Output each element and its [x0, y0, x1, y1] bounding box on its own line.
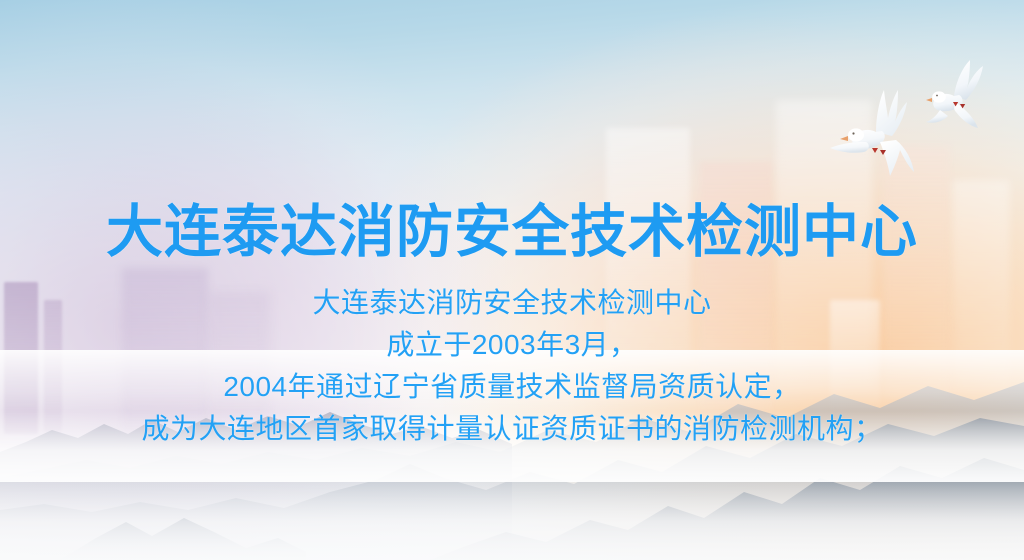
- description-block: 大连泰达消防安全技术检测中心 成立于2003年3月， 2004年通过辽宁省质量技…: [0, 282, 1024, 450]
- dove-icon-right: [920, 58, 996, 138]
- description-line-1: 大连泰达消防安全技术检测中心: [0, 282, 1024, 324]
- description-line-3: 2004年通过辽宁省质量技术监督局资质认定，: [0, 366, 1024, 408]
- description-line-2: 成立于2003年3月，: [0, 324, 1024, 366]
- description-line-4: 成为大连地区首家取得计量认证资质证书的消防检测机构；: [0, 408, 1024, 450]
- dove-icon-left: [826, 86, 926, 182]
- page-title: 大连泰达消防安全技术检测中心: [0, 200, 1024, 264]
- dove-right-svg: [920, 58, 996, 138]
- dove-left-svg: [826, 86, 926, 182]
- banner-stage: 大连泰达消防安全技术检测中心 大连泰达消防安全技术检测中心 成立于2003年3月…: [0, 0, 1024, 560]
